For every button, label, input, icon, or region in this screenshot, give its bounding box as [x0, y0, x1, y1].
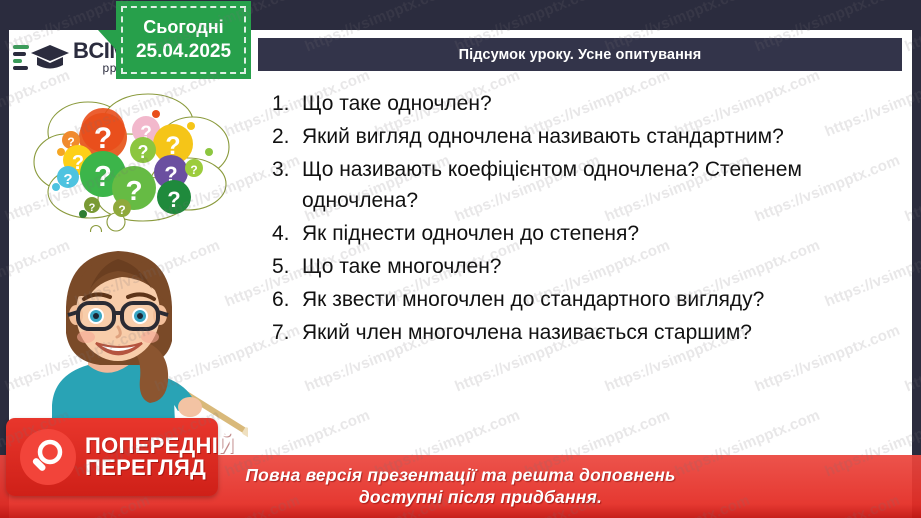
list-item-number: 4. — [272, 218, 302, 249]
watermark-text: https://vsimpptx.com — [0, 322, 2, 396]
list-item: 7. Який член многочлена називається стар… — [272, 317, 872, 348]
today-date-value: 25.04.2025 — [136, 41, 231, 63]
today-date-badge: Сьогодні 25.04.2025 — [116, 1, 251, 79]
watermark-text: https://vsimpptx.com — [0, 152, 2, 226]
svg-text:?: ? — [89, 202, 96, 214]
question-list: 1. Що таке одночлен? 2. Який вигляд одно… — [272, 88, 872, 350]
list-item-text: Який член многочлена називається старшим… — [302, 317, 872, 348]
list-item-text: Що називають коефіцієнтом одночлена? Сте… — [302, 154, 872, 216]
list-item-number: 2. — [272, 121, 302, 152]
list-item-number: 6. — [272, 284, 302, 315]
list-item: 4. Як піднести одночлен до степеня? — [272, 218, 872, 249]
list-item-text: Як піднести одночлен до степеня? — [302, 218, 872, 249]
list-item-number: 1. — [272, 88, 302, 119]
svg-text:?: ? — [138, 142, 149, 162]
watermark-text: https://vsimpptx.com — [0, 0, 2, 55]
list-item-number: 7. — [272, 317, 302, 348]
teacher-character-illustration — [18, 215, 248, 445]
banner-line-2: доступні після придбання. — [319, 487, 602, 508]
list-item: 6. Як звести многочлен до стандартного в… — [272, 284, 872, 315]
list-item: 5. Що таке многочлен? — [272, 251, 872, 282]
list-item-text: Як звести многочлен до стандартного вигл… — [302, 284, 872, 315]
list-item-number: 3. — [272, 154, 302, 185]
list-item: 1. Що таке одночлен? — [272, 88, 872, 119]
page-title: Підсумок уроку. Усне опитування — [459, 47, 702, 63]
svg-text:?: ? — [167, 187, 180, 212]
svg-text:?: ? — [190, 163, 197, 177]
magnifier-icon — [20, 429, 76, 485]
preview-button[interactable]: ПОПЕРЕДНІЙ ПЕРЕГЛЯД — [6, 418, 218, 496]
slide-root: ? ? ? ? ? ? ? ? ? ? — [0, 0, 921, 518]
preview-button-line-2: ПЕРЕГЛЯД — [85, 457, 234, 479]
list-item-text: Що таке многочлен? — [302, 251, 872, 282]
preview-button-line-1: ПОПЕРЕДНІЙ — [85, 435, 234, 457]
thought-bubble-illustration: ? ? ? ? ? ? ? ? ? ? — [28, 92, 233, 232]
list-item: 2. Який вигляд одночлена називають станд… — [272, 121, 872, 152]
banner-line-1: Повна версія презентації та решта доповн… — [245, 465, 675, 486]
slide-title-bar: Підсумок уроку. Усне опитування — [258, 38, 902, 71]
svg-text:?: ? — [94, 122, 112, 155]
svg-text:?: ? — [94, 161, 112, 193]
badge-fold-decoration — [98, 30, 118, 52]
graduation-cap-icon — [30, 38, 70, 78]
list-item-number: 5. — [272, 251, 302, 282]
list-item-text: Який вигляд одночлена називають стандарт… — [302, 121, 872, 152]
today-label: Сьогодні — [143, 17, 223, 38]
svg-text:?: ? — [63, 171, 72, 188]
list-item: 3. Що називають коефіцієнтом одночлена? … — [272, 154, 872, 216]
list-item-text: Що таке одночлен? — [302, 88, 872, 119]
speed-lines-icon — [13, 45, 29, 70]
